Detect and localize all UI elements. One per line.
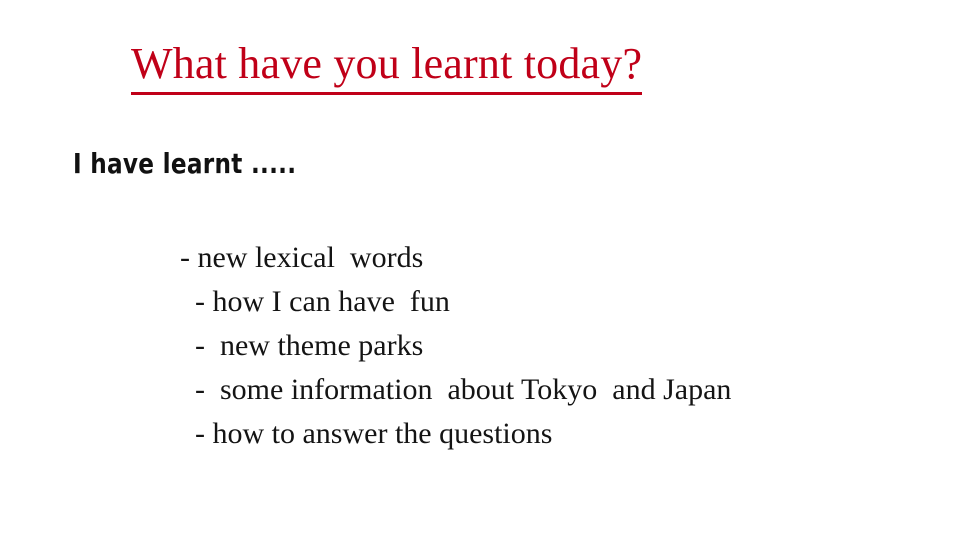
slide-canvas: What have you learnt today? I have learn… <box>0 0 960 540</box>
list-item: - new theme parks <box>0 324 960 368</box>
list-item: - how to answer the questions <box>0 412 960 456</box>
intro-text: I have learnt ..... <box>73 148 296 180</box>
list-item: - some information about Tokyo and Japan <box>0 368 960 412</box>
page-title: What have you learnt today? <box>131 38 642 95</box>
bullet-list: - new lexical words - how I can have fun… <box>0 236 960 456</box>
list-item: - new lexical words <box>0 236 960 280</box>
list-item: - how I can have fun <box>0 280 960 324</box>
